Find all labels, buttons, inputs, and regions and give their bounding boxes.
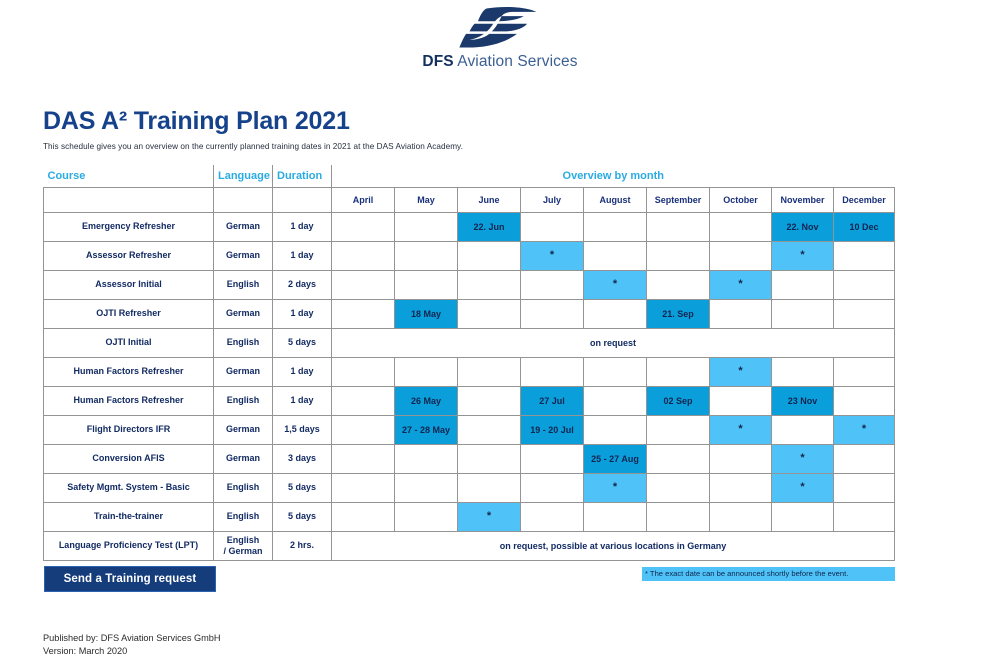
course-name-cell: Human Factors Refresher (44, 386, 214, 415)
schedule-cell-october[interactable]: * (710, 270, 772, 299)
month-header-october: October (710, 187, 772, 212)
schedule-cell-november[interactable]: * (772, 444, 834, 473)
schedule-cell-november (772, 502, 834, 531)
schedule-cell-may[interactable]: 26 May (395, 386, 458, 415)
schedule-cell-november[interactable]: * (772, 241, 834, 270)
table-header-months: AprilMayJuneJulyAugustSeptemberOctoberNo… (44, 187, 895, 212)
schedule-cell-april (332, 415, 395, 444)
schedule-cell-november (772, 299, 834, 328)
dfs-swoosh-logo-icon (457, 6, 543, 50)
schedule-cell-june (458, 386, 521, 415)
schedule-cell-may (395, 473, 458, 502)
schedule-cell-september (647, 212, 710, 241)
schedule-cell-december (834, 299, 895, 328)
table-row: Assessor InitialEnglish2 days** (44, 270, 895, 299)
schedule-cell-april (332, 299, 395, 328)
course-duration-cell: 1 day (273, 357, 332, 386)
table-row: Human Factors RefresherEnglish1 day26 Ma… (44, 386, 895, 415)
schedule-cell-december[interactable]: * (834, 415, 895, 444)
schedule-cell-august (584, 299, 647, 328)
schedule-cell-december (834, 444, 895, 473)
schedule-cell-august[interactable]: * (584, 270, 647, 299)
month-header-april: April (332, 187, 395, 212)
course-duration-cell: 1 day (273, 212, 332, 241)
table-row: Emergency RefresherGerman1 day22. Jun22.… (44, 212, 895, 241)
training-plan-sheet: DAS A² Training Plan 2021 This schedule … (43, 108, 895, 592)
schedule-cell-april (332, 473, 395, 502)
schedule-cell-may (395, 357, 458, 386)
course-name-cell: Train-the-trainer (44, 502, 214, 531)
course-name-cell: Safety Mgmt. System - Basic (44, 473, 214, 502)
schedule-cell-december (834, 386, 895, 415)
column-header-course: Course (44, 165, 214, 188)
schedule-cell-november[interactable]: 22. Nov (772, 212, 834, 241)
schedule-cell-april (332, 502, 395, 531)
course-duration-cell: 1,5 days (273, 415, 332, 444)
course-name-cell: Assessor Initial (44, 270, 214, 299)
month-header-november: November (772, 187, 834, 212)
course-language-cell: German (214, 415, 273, 444)
schedule-cell-august (584, 241, 647, 270)
schedule-cell-august[interactable]: * (584, 473, 647, 502)
course-name-cell: Assessor Refresher (44, 241, 214, 270)
schedule-cell-november[interactable]: * (772, 473, 834, 502)
page-subtitle: This schedule gives you an overview on t… (43, 142, 895, 151)
schedule-cell-july (521, 270, 584, 299)
month-header-spacer (44, 187, 214, 212)
brand-logo: DFS Aviation Services (0, 0, 1000, 71)
schedule-cell-december (834, 241, 895, 270)
schedule-cell-december (834, 502, 895, 531)
month-header-july: July (521, 187, 584, 212)
course-name-cell: Conversion AFIS (44, 444, 214, 473)
course-name-cell: OJTI Refresher (44, 299, 214, 328)
schedule-cell-may (395, 212, 458, 241)
schedule-cell-december (834, 473, 895, 502)
tentative-date-asterisk: * (772, 482, 833, 493)
schedule-cell-october (710, 473, 772, 502)
schedule-cell-june[interactable]: 22. Jun (458, 212, 521, 241)
brand-name-rest: Aviation Services (457, 53, 577, 70)
schedule-cell-june (458, 241, 521, 270)
schedule-cell-november (772, 415, 834, 444)
course-language-cell: English (214, 328, 273, 357)
course-name-cell: Language Proficiency Test (LPT) (44, 531, 214, 560)
schedule-cell-december[interactable]: 10 Dec (834, 212, 895, 241)
schedule-cell-july (521, 444, 584, 473)
month-header-december: December (834, 187, 895, 212)
table-row: Human Factors RefresherGerman1 day* (44, 357, 895, 386)
course-name-cell: Flight Directors IFR (44, 415, 214, 444)
schedule-cell-august (584, 502, 647, 531)
course-language-cell: German (214, 444, 273, 473)
table-footer: Send a Training request * The exact date… (43, 566, 895, 592)
schedule-cell-december (834, 357, 895, 386)
table-row: OJTI RefresherGerman1 day18 May21. Sep (44, 299, 895, 328)
schedule-cell-april (332, 357, 395, 386)
schedule-cell-november (772, 357, 834, 386)
month-header-spacer (214, 187, 273, 212)
schedule-cell-september (647, 415, 710, 444)
schedule-cell-december (834, 270, 895, 299)
course-duration-cell: 3 days (273, 444, 332, 473)
course-duration-cell: 2 hrs. (273, 531, 332, 560)
table-row: Train-the-trainerEnglish5 days* (44, 502, 895, 531)
schedule-cell-july (521, 299, 584, 328)
table-header-top: CourseLanguageDurationOverview by month (44, 165, 895, 188)
course-language-cell: English (214, 502, 273, 531)
course-availability-note: on request, possible at various location… (332, 531, 895, 560)
brand-wordmark: DFS Aviation Services (422, 53, 577, 71)
publication-info: Published by: DFS Aviation Services GmbH… (43, 632, 221, 659)
course-duration-cell: 5 days (273, 473, 332, 502)
schedule-cell-may (395, 444, 458, 473)
course-duration-cell: 1 day (273, 386, 332, 415)
course-name-cell: Human Factors Refresher (44, 357, 214, 386)
schedule-cell-june (458, 357, 521, 386)
tentative-date-asterisk: * (772, 250, 833, 261)
tentative-date-asterisk: * (710, 279, 771, 290)
month-header-june: June (458, 187, 521, 212)
course-duration-cell: 1 day (273, 299, 332, 328)
schedule-cell-april (332, 270, 395, 299)
course-language-cell: English (214, 473, 273, 502)
version: Version: March 2020 (43, 645, 221, 658)
month-header-august: August (584, 187, 647, 212)
schedule-cell-june (458, 415, 521, 444)
table-row: Conversion AFISGerman3 days25 - 27 Aug* (44, 444, 895, 473)
schedule-cell-october[interactable]: * (710, 357, 772, 386)
course-language-cell: English (214, 270, 273, 299)
schedule-cell-july[interactable]: * (521, 241, 584, 270)
schedule-cell-september (647, 473, 710, 502)
schedule-cell-july (521, 212, 584, 241)
column-header-duration: Duration (273, 165, 332, 188)
schedule-cell-september (647, 241, 710, 270)
schedule-cell-september[interactable]: 02 Sep (647, 386, 710, 415)
tentative-date-asterisk: * (458, 511, 520, 522)
schedule-cell-september (647, 270, 710, 299)
schedule-cell-september (647, 444, 710, 473)
schedule-cell-october (710, 299, 772, 328)
course-name-cell: OJTI Initial (44, 328, 214, 357)
legend-note: * The exact date can be announced shortl… (642, 567, 895, 581)
schedule-cell-april (332, 386, 395, 415)
course-availability-note: on request (332, 328, 895, 357)
month-header-may: May (395, 187, 458, 212)
course-language-cell: German (214, 299, 273, 328)
schedule-cell-june (458, 444, 521, 473)
schedule-cell-november (772, 270, 834, 299)
schedule-cell-june (458, 270, 521, 299)
course-duration-cell: 5 days (273, 328, 332, 357)
tentative-date-asterisk: * (584, 482, 646, 493)
published-by: Published by: DFS Aviation Services GmbH (43, 632, 221, 645)
course-duration-cell: 2 days (273, 270, 332, 299)
tentative-date-asterisk: * (834, 424, 894, 435)
tentative-date-asterisk: * (521, 250, 583, 261)
schedule-cell-june[interactable]: * (458, 502, 521, 531)
schedule-cell-may[interactable]: 18 May (395, 299, 458, 328)
schedule-cell-august (584, 357, 647, 386)
schedule-cell-may (395, 502, 458, 531)
schedule-cell-august (584, 415, 647, 444)
column-header-overview-by-month: Overview by month (332, 165, 895, 188)
schedule-cell-september (647, 357, 710, 386)
tentative-date-asterisk: * (710, 366, 771, 377)
schedule-cell-november[interactable]: 23 Nov (772, 386, 834, 415)
schedule-cell-july (521, 473, 584, 502)
month-header-september: September (647, 187, 710, 212)
schedule-cell-october (710, 241, 772, 270)
schedule-cell-april (332, 212, 395, 241)
tentative-date-asterisk: * (710, 424, 771, 435)
schedule-cell-july (521, 357, 584, 386)
schedule-cell-may[interactable]: 27 - 28 May (395, 415, 458, 444)
schedule-cell-august (584, 386, 647, 415)
schedule-cell-august[interactable]: 25 - 27 Aug (584, 444, 647, 473)
schedule-cell-october[interactable]: * (710, 415, 772, 444)
schedule-cell-april (332, 444, 395, 473)
schedule-cell-september (647, 502, 710, 531)
table-row: Flight Directors IFRGerman1,5 days27 - 2… (44, 415, 895, 444)
brand-name-bold: DFS (422, 53, 453, 70)
course-duration-cell: 5 days (273, 502, 332, 531)
schedule-cell-june (458, 299, 521, 328)
tentative-date-asterisk: * (584, 279, 646, 290)
schedule-cell-october (710, 444, 772, 473)
schedule-cell-may (395, 241, 458, 270)
course-language-cell: English/ German (214, 531, 273, 560)
schedule-cell-august (584, 212, 647, 241)
column-header-language: Language (214, 165, 273, 188)
table-row: Assessor RefresherGerman1 day** (44, 241, 895, 270)
schedule-cell-april (332, 241, 395, 270)
course-language-cell: German (214, 357, 273, 386)
table-row: Safety Mgmt. System - BasicEnglish5 days… (44, 473, 895, 502)
month-header-spacer (273, 187, 332, 212)
schedule-cell-october (710, 502, 772, 531)
page-title: DAS A² Training Plan 2021 (43, 108, 895, 136)
schedule-cell-july (521, 502, 584, 531)
training-plan-table: CourseLanguageDurationOverview by monthA… (43, 165, 895, 561)
schedule-cell-september[interactable]: 21. Sep (647, 299, 710, 328)
table-row: Language Proficiency Test (LPT)English/ … (44, 531, 895, 560)
schedule-cell-july[interactable]: 27 Jul (521, 386, 584, 415)
course-language-cell: German (214, 241, 273, 270)
schedule-cell-july[interactable]: 19 - 20 Jul (521, 415, 584, 444)
schedule-cell-may (395, 270, 458, 299)
schedule-cell-october (710, 386, 772, 415)
tentative-date-asterisk: * (772, 453, 833, 464)
table-row: OJTI InitialEnglish5 dayson request (44, 328, 895, 357)
course-name-cell: Emergency Refresher (44, 212, 214, 241)
course-duration-cell: 1 day (273, 241, 332, 270)
schedule-cell-june (458, 473, 521, 502)
course-language-cell: English (214, 386, 273, 415)
send-training-request-button[interactable]: Send a Training request (44, 566, 216, 592)
course-language-cell: German (214, 212, 273, 241)
schedule-cell-october (710, 212, 772, 241)
